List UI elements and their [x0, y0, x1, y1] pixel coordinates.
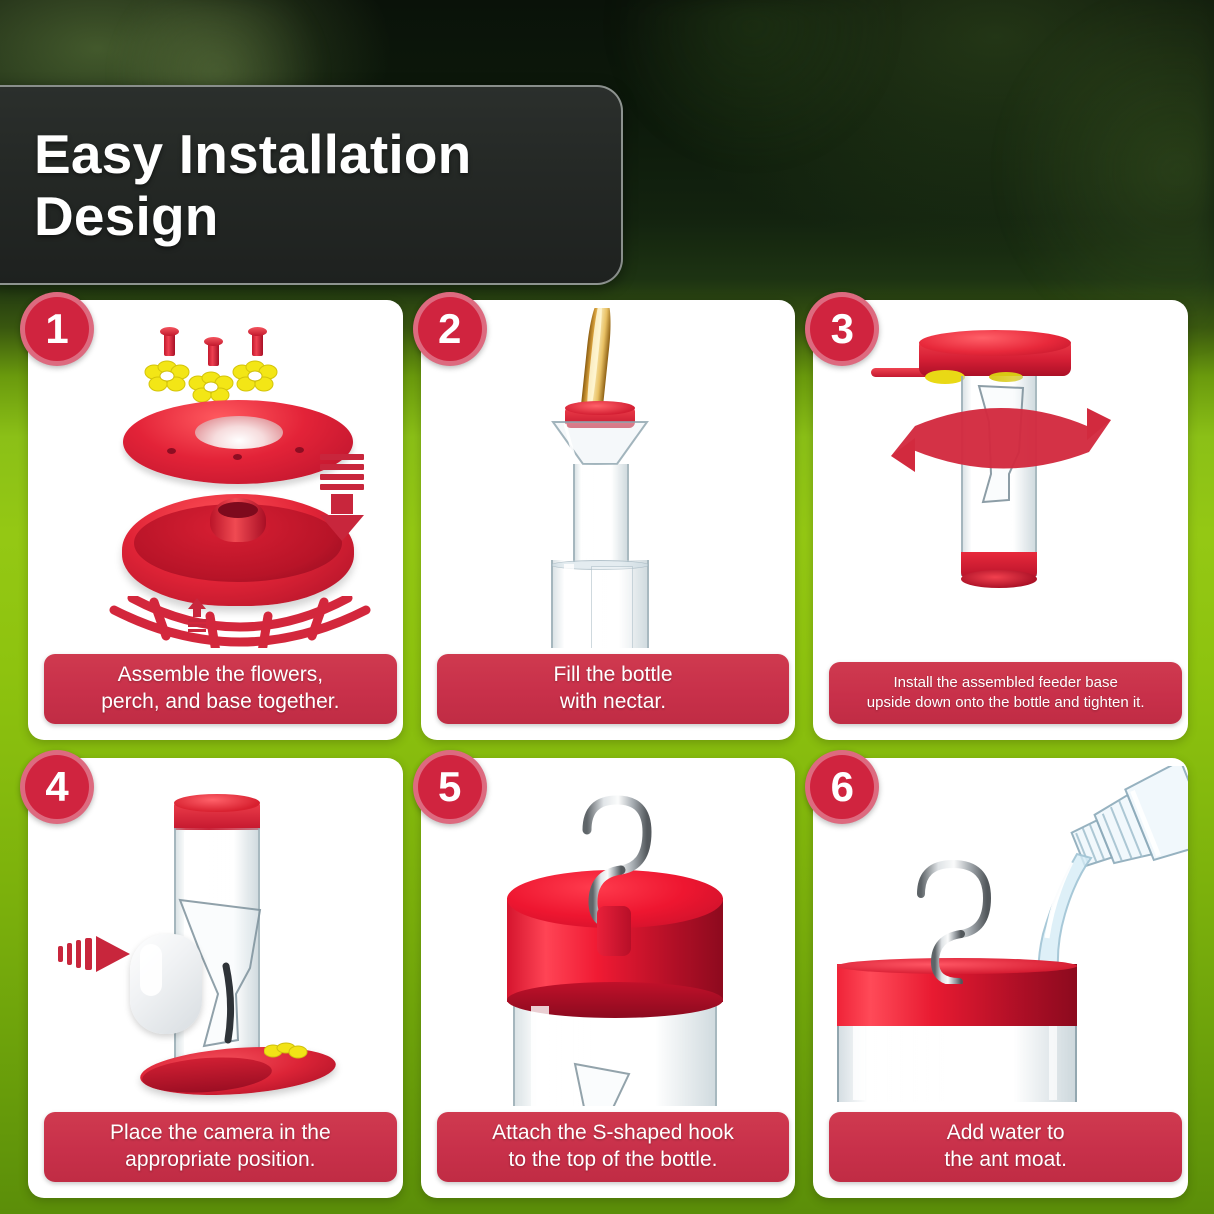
bottle-highlight	[564, 564, 574, 648]
step-card-4: 4	[28, 758, 403, 1198]
bottle-filling-with-nectar-illustration	[421, 308, 796, 648]
step-caption-5: Attach the S-shaped hookto the top of th…	[437, 1112, 790, 1182]
step-caption-text: Add water tothe ant moat.	[944, 1120, 1067, 1174]
title-line-2: Design	[34, 185, 471, 247]
steps-grid: 1	[28, 300, 1188, 1198]
step-caption-1: Assemble the flowers,perch, and base tog…	[44, 654, 397, 724]
bottle-bottom-face	[961, 570, 1037, 588]
hook-anchor-tab	[597, 906, 631, 956]
page-title: Easy Installation Design	[34, 123, 471, 247]
step-caption-6: Add water tothe ant moat.	[829, 1112, 1182, 1182]
s-shaped-hook	[909, 858, 1005, 984]
title-line-1: Easy Installation	[34, 123, 471, 185]
moat-highlight	[853, 1026, 865, 1100]
step-card-6: 6	[813, 758, 1188, 1198]
feeding-port-icon	[252, 330, 263, 356]
feeding-port-icon	[208, 340, 219, 366]
base-neck-opening	[218, 502, 258, 518]
installation-infographic: Easy Installation Design 1	[0, 0, 1214, 1214]
perch-direction-arrow-up	[188, 598, 206, 634]
step-caption-text: Attach the S-shaped hookto the top of th…	[492, 1120, 734, 1174]
ring-center-hole	[195, 416, 283, 449]
ant-moat-water-illustration	[813, 766, 1188, 1106]
screw-hole	[167, 448, 176, 454]
step-card-5: 5	[421, 758, 796, 1198]
step-card-1: 1	[28, 300, 403, 740]
step-number-badge-2: 2	[413, 292, 487, 366]
bottle-highlight	[583, 466, 591, 558]
flower-washer-icon	[144, 360, 190, 399]
feeder-ring-lid	[123, 400, 353, 484]
step-caption-3: Install the assembled feeder baseupside …	[829, 662, 1182, 724]
camera-highlight	[140, 944, 162, 996]
s-hook-attachment-illustration	[421, 766, 796, 1106]
rotation-arrows	[875, 400, 1127, 476]
step-caption-text: Place the camera in theappropriate posit…	[110, 1120, 331, 1174]
camera-placement-illustration	[28, 766, 403, 1106]
inner-feeder-tube	[571, 1062, 651, 1106]
feeding-port-icon	[164, 330, 175, 356]
flower-washer-icon	[264, 1042, 308, 1060]
step-caption-text: Install the assembled feeder baseupside …	[867, 673, 1145, 714]
step-caption-text: Fill the bottlewith nectar.	[553, 662, 672, 716]
camera-direction-arrow	[58, 932, 132, 976]
flower-washer-icon	[925, 370, 965, 384]
moat-highlight	[1049, 1026, 1057, 1100]
bottle-highlight	[531, 1006, 549, 1106]
bottle-top-cap-face	[174, 794, 260, 812]
step-number-badge-1: 1	[20, 292, 94, 366]
exploded-feeder-base-illustration	[28, 308, 403, 648]
flower-washer-icon	[232, 360, 278, 399]
screw-hole	[295, 447, 304, 453]
bottle-funnel	[551, 420, 649, 466]
step-caption-text: Assemble the flowers,perch, and base tog…	[101, 662, 339, 716]
step-card-3: 3	[813, 300, 1188, 740]
step-number-badge-6: 6	[805, 750, 879, 824]
title-banner: Easy Installation Design	[0, 85, 623, 285]
step-number-badge-3: 3	[805, 292, 879, 366]
step-caption-4: Place the camera in theappropriate posit…	[44, 1112, 397, 1182]
inverted-bottle-tighten-illustration	[813, 308, 1188, 648]
step-caption-2: Fill the bottlewith nectar.	[437, 654, 790, 724]
screw-hole	[233, 454, 242, 460]
feeder-base-top-face	[919, 330, 1071, 356]
bottle-cap-top	[565, 401, 635, 415]
step-number-badge-4: 4	[20, 750, 94, 824]
inner-reservoir-wall	[591, 566, 633, 648]
step-number-badge-5: 5	[413, 750, 487, 824]
ant-moat-clear-body	[837, 1024, 1077, 1102]
bottle-mid-tube	[573, 464, 629, 562]
step-card-2: 2	[421, 300, 796, 740]
assembly-direction-arrow-down	[320, 454, 364, 541]
perch-wire	[106, 596, 374, 648]
